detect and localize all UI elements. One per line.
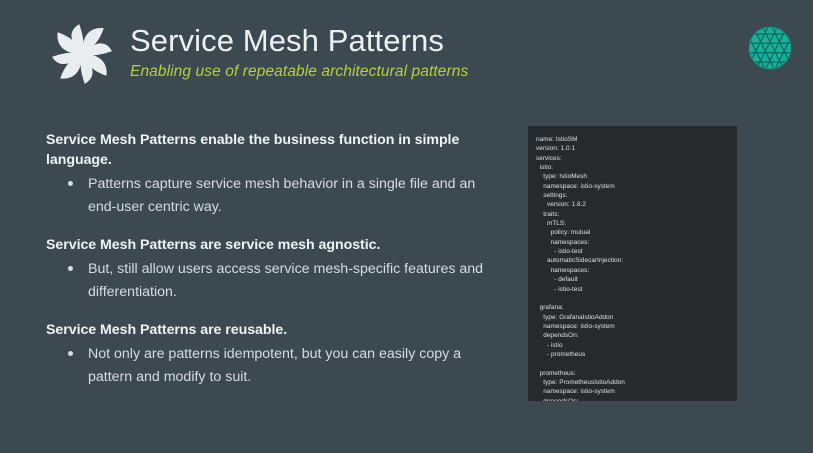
code-line: automaticSidecarInjection: [536,256,727,265]
code-line [536,359,727,368]
list-item: Patterns capture service mesh behavior i… [46,173,501,218]
code-line: - istio-test [536,285,727,294]
code-line: version: 1.0.1 [536,144,727,153]
code-line: type: GrafanaIstioAddon [536,313,727,322]
code-line: namespaces: [536,266,727,275]
code-line: services: [536,154,727,163]
code-line: namespace: istio-system [536,322,727,331]
code-line: namespace: istio-system [536,387,727,396]
code-line: dependsOn: [536,331,727,340]
title-block: Service Mesh Patterns Enabling use of re… [130,25,468,83]
code-line: mTLS: [536,219,727,228]
list-item-text: Not only are patterns idempotent, but yo… [88,346,461,384]
code-line: istio: [536,163,727,172]
mesh-network-circle-icon [744,22,796,74]
code-line: settings: [536,191,727,200]
bullet-list: Not only are patterns idempotent, but yo… [46,343,501,388]
code-line [536,294,727,303]
point-group: Service Mesh Patterns enable the busines… [46,130,501,218]
yaml-code-panel: name: IstioSMversion: 1.0.1services: ist… [528,126,737,401]
code-line: - istio [536,341,727,350]
slide-header: Service Mesh Patterns Enabling use of re… [48,14,468,94]
bullet-dot-icon [68,181,73,186]
point-heading: Service Mesh Patterns are reusable. [46,320,501,340]
code-line: - prometheus [536,350,727,359]
code-line: version: 1.8.2 [536,200,727,209]
point-heading: Service Mesh Patterns are service mesh a… [46,235,501,255]
bullet-list: But, still allow users access service me… [46,258,501,303]
code-line: namespace: istio-system [536,182,727,191]
list-item-text: Patterns capture service mesh behavior i… [88,176,475,214]
code-line: type: PrometheusIstioAddon [536,378,727,387]
list-item: Not only are patterns idempotent, but yo… [46,343,501,388]
point-group: Service Mesh Patterns are reusable. Not … [46,320,501,388]
bullet-list: Patterns capture service mesh behavior i… [46,173,501,218]
code-line: traits: [536,210,727,219]
meshery-pinwheel-logo-icon [48,20,116,88]
bullet-dot-icon [68,351,73,356]
code-line: prometheus: [536,369,727,378]
code-line: policy: mutual [536,228,727,237]
code-line: name: IstioSM [536,135,727,144]
point-group: Service Mesh Patterns are service mesh a… [46,235,501,303]
page-title: Service Mesh Patterns [130,25,468,58]
list-item-text: But, still allow users access service me… [88,261,483,299]
page-subtitle: Enabling use of repeatable architectural… [130,63,468,81]
list-item: But, still allow users access service me… [46,258,501,303]
slide-canvas: Service Mesh Patterns Enabling use of re… [0,0,813,453]
code-line: - default [536,275,727,284]
code-line: type: IstioMesh [536,172,727,181]
code-line: grafana: [536,303,727,312]
bullet-dot-icon [68,266,73,271]
content-left-column: Service Mesh Patterns enable the busines… [46,130,501,388]
code-line: namespaces: [536,238,727,247]
point-heading: Service Mesh Patterns enable the busines… [46,130,501,170]
code-line: - istio-test [536,247,727,256]
code-line: dependsOn: [536,397,727,401]
